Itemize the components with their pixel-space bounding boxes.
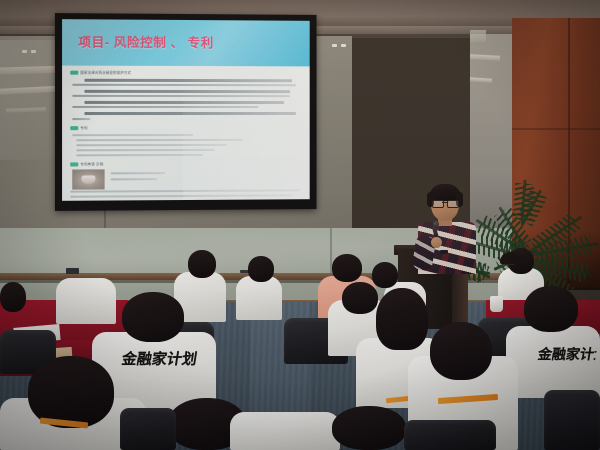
attendee-head-long-hair: [376, 288, 428, 350]
attendee-body: [236, 276, 282, 320]
wall-marker-icon: [332, 44, 337, 47]
slide-thumbnail-caption: [111, 178, 157, 180]
microphone-head: [433, 221, 439, 227]
slide-section-heading: 国家法律对商业秘密的保护方式: [70, 70, 131, 75]
attendee-head: [342, 282, 378, 314]
photo-scene: 项目- 风险控制 、 专利 国家法律对商业秘密的保护方式 专利: [0, 0, 600, 450]
chair: [404, 420, 496, 450]
tshirt-logo: 金融家计划: [120, 348, 198, 369]
attendee-head: [122, 292, 184, 342]
attendee-body: [230, 412, 340, 450]
attendee-head: [524, 286, 578, 332]
paper-cup: [490, 296, 503, 312]
slide-thumbnail-caption: [111, 172, 165, 174]
slide-section-heading: 专利: [70, 125, 87, 130]
wall-marker-icon: [22, 50, 27, 53]
attendee-head: [332, 406, 406, 450]
bullet-chip-icon: [70, 162, 78, 166]
wall-marker-icon: [31, 50, 36, 53]
wall-reflection-band: [470, 30, 486, 42]
projection-screen: 项目- 风险控制 、 专利 国家法律对商业秘密的保护方式 专利: [55, 13, 317, 211]
slide-section-heading: 专利申请 示例: [70, 161, 103, 166]
screen-glare: [183, 66, 310, 200]
bullet-chip-icon: [70, 70, 78, 74]
chair: [544, 390, 600, 450]
wall-marker-icon: [341, 44, 346, 47]
bullet-chip-icon: [70, 126, 78, 130]
slide-thumbnail-image: [72, 169, 104, 189]
attendee-head: [372, 262, 398, 288]
glasses-icon: [447, 200, 459, 208]
eraser-icon: [66, 268, 79, 274]
slide-title: 项目- 风险控制 、 专利: [78, 31, 298, 51]
attendee-head: [248, 256, 274, 282]
attendee-head: [332, 254, 362, 282]
chair: [120, 408, 176, 450]
slide-text-line: [72, 134, 193, 136]
attendee-head: [430, 322, 492, 380]
tshirt-logo: 金融家计划: [536, 344, 597, 364]
palm-frond: [521, 180, 527, 224]
presenter-hand: [431, 237, 442, 248]
attendee-head: [188, 250, 216, 278]
slide-text-line: [72, 118, 90, 120]
wristwatch: [440, 250, 448, 254]
glasses-bridge: [442, 202, 447, 203]
attendee-body: [56, 278, 116, 324]
attendee-head: [0, 282, 26, 312]
wood-panel-seam: [512, 128, 600, 130]
screen-surface: 项目- 风险控制 、 专利 国家法律对商业秘密的保护方式 专利: [62, 19, 310, 201]
